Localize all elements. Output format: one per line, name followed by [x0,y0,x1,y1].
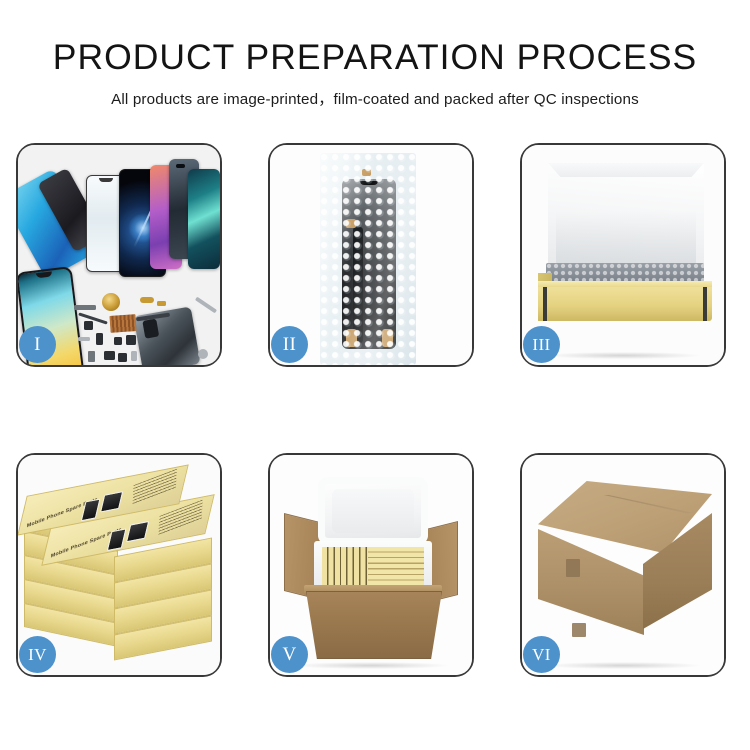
step-badge-1: I [19,326,56,363]
teal-wave-phone [188,169,220,269]
process-step-6-sealed-shipping-carton[interactable]: VI [520,453,726,677]
kraft-box-front [538,287,712,321]
step-badge-5: V [271,636,308,673]
step-badge-2: II [271,326,308,363]
page-subtitle: All products are image-printed，film-coat… [0,76,750,109]
component-chip [104,351,115,360]
component-chip [126,335,136,345]
process-step-3-open-kraft-box-with-foam[interactable]: III [520,143,726,367]
boxes-horizontal-row [368,547,424,589]
drop-shadow [546,352,700,359]
plastic-sheen [320,153,416,365]
component-chip [84,321,93,330]
boxes-vertical-row [322,547,368,589]
product-photo [100,491,123,513]
carton-tab [572,623,586,637]
component-chip [118,353,127,362]
component-chip [157,301,166,306]
step-badge-3: III [523,326,560,363]
styrofoam-lid [318,477,428,545]
step-badge-6: VI [523,636,560,673]
component-chip [96,333,103,345]
drop-shadow [294,662,448,669]
component-chip [114,337,122,345]
product-photo [126,521,149,543]
gold-coil-component [102,293,120,311]
component-chip [131,351,137,361]
page-title: PRODUCT PREPARATION PROCESS [0,0,750,76]
drop-shadow [546,662,700,669]
bubble-wrap-bag [320,153,416,365]
component-chip [198,349,208,359]
component-chip [88,351,95,362]
component-chip [78,337,90,341]
component-chip [140,297,154,303]
process-step-4-stacked-retail-boxes[interactable]: Mobile Phone Spare Parts Mobile Phone Sp… [16,453,222,677]
white-foam-lid [548,163,704,271]
process-step-2-bubble-wrapped-part[interactable]: II [268,143,474,367]
process-step-1-phone-screens-and-parts[interactable]: I [16,143,222,367]
process-step-5-open-carton-with-boxes[interactable]: V [268,453,474,677]
component-chip [74,305,96,310]
carton-tab [566,559,580,577]
yellow-boxes-inside [322,547,424,589]
page-header: PRODUCT PREPARATION PROCESS All products… [0,0,750,130]
process-step-grid: I II [16,143,734,677]
step-badge-4: IV [19,636,56,673]
copper-shield-mesh [109,314,136,333]
spec-lines [133,469,177,505]
carton-body [306,591,442,659]
